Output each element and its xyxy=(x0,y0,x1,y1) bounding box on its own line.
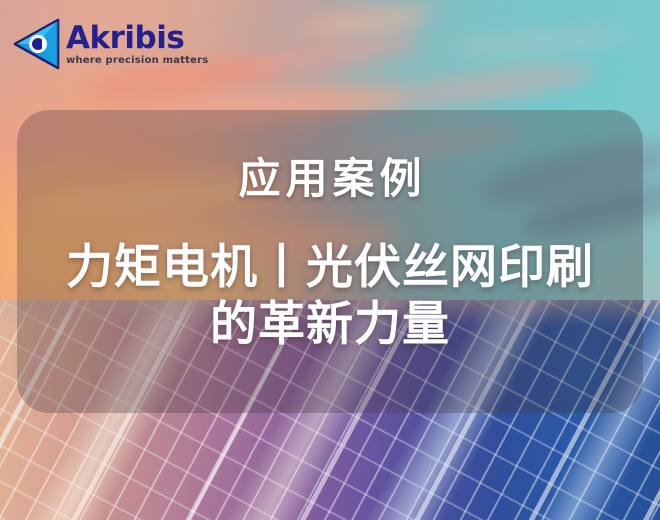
brand-name: Akribis xyxy=(66,23,184,54)
promo-banner: Akribis where precision matters 应用案例 力矩电… xyxy=(0,0,660,520)
eyebrow-heading: 应用案例 xyxy=(0,158,660,200)
logo-text-block: Akribis where precision matters xyxy=(66,23,208,66)
akribis-triangle-logo-icon xyxy=(12,17,62,71)
main-headline: 力矩电机丨光伏丝网印刷 的革新力量 xyxy=(0,240,660,354)
headline-line-2: 的革新力量 xyxy=(0,297,660,354)
brand-tagline: where precision matters xyxy=(66,56,208,66)
akribis-logo: Akribis where precision matters xyxy=(12,17,208,71)
headline-line-1: 力矩电机丨光伏丝网印刷 xyxy=(0,240,660,297)
